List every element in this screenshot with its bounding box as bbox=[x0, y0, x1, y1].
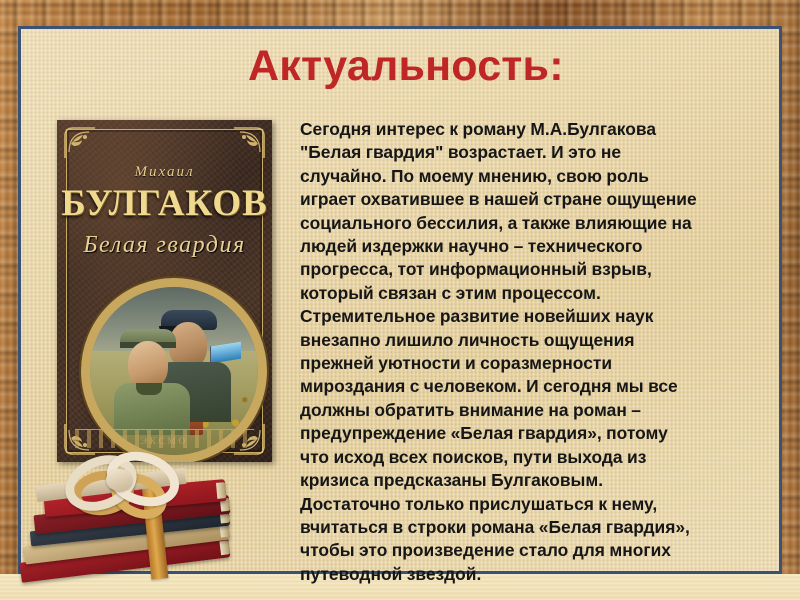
cover-author-last-name: БУЛГАКОВ bbox=[57, 182, 272, 225]
ribbon-bow bbox=[66, 451, 178, 509]
ornament-corner-icon bbox=[232, 126, 266, 160]
page-title: Актуальность: bbox=[248, 45, 564, 88]
book-stack-image bbox=[18, 455, 278, 583]
body-paragraph: Сегодня интерес к роману М.А.Булгакова "… bbox=[300, 118, 700, 586]
book-cover-image: Михаил БУЛГАКОВ Белая гвардия ЭКСМО bbox=[57, 120, 272, 462]
presentation-slide: Актуальность: Сегодня интерес к роману М… bbox=[0, 0, 800, 600]
cover-publisher-mark: ЭКСМО bbox=[57, 436, 272, 446]
cover-author-first-name: Михаил bbox=[57, 164, 272, 181]
illustration-officer-front bbox=[112, 321, 190, 435]
ornament-corner-icon bbox=[63, 126, 97, 160]
cover-book-title: Белая гвардия bbox=[57, 232, 272, 259]
